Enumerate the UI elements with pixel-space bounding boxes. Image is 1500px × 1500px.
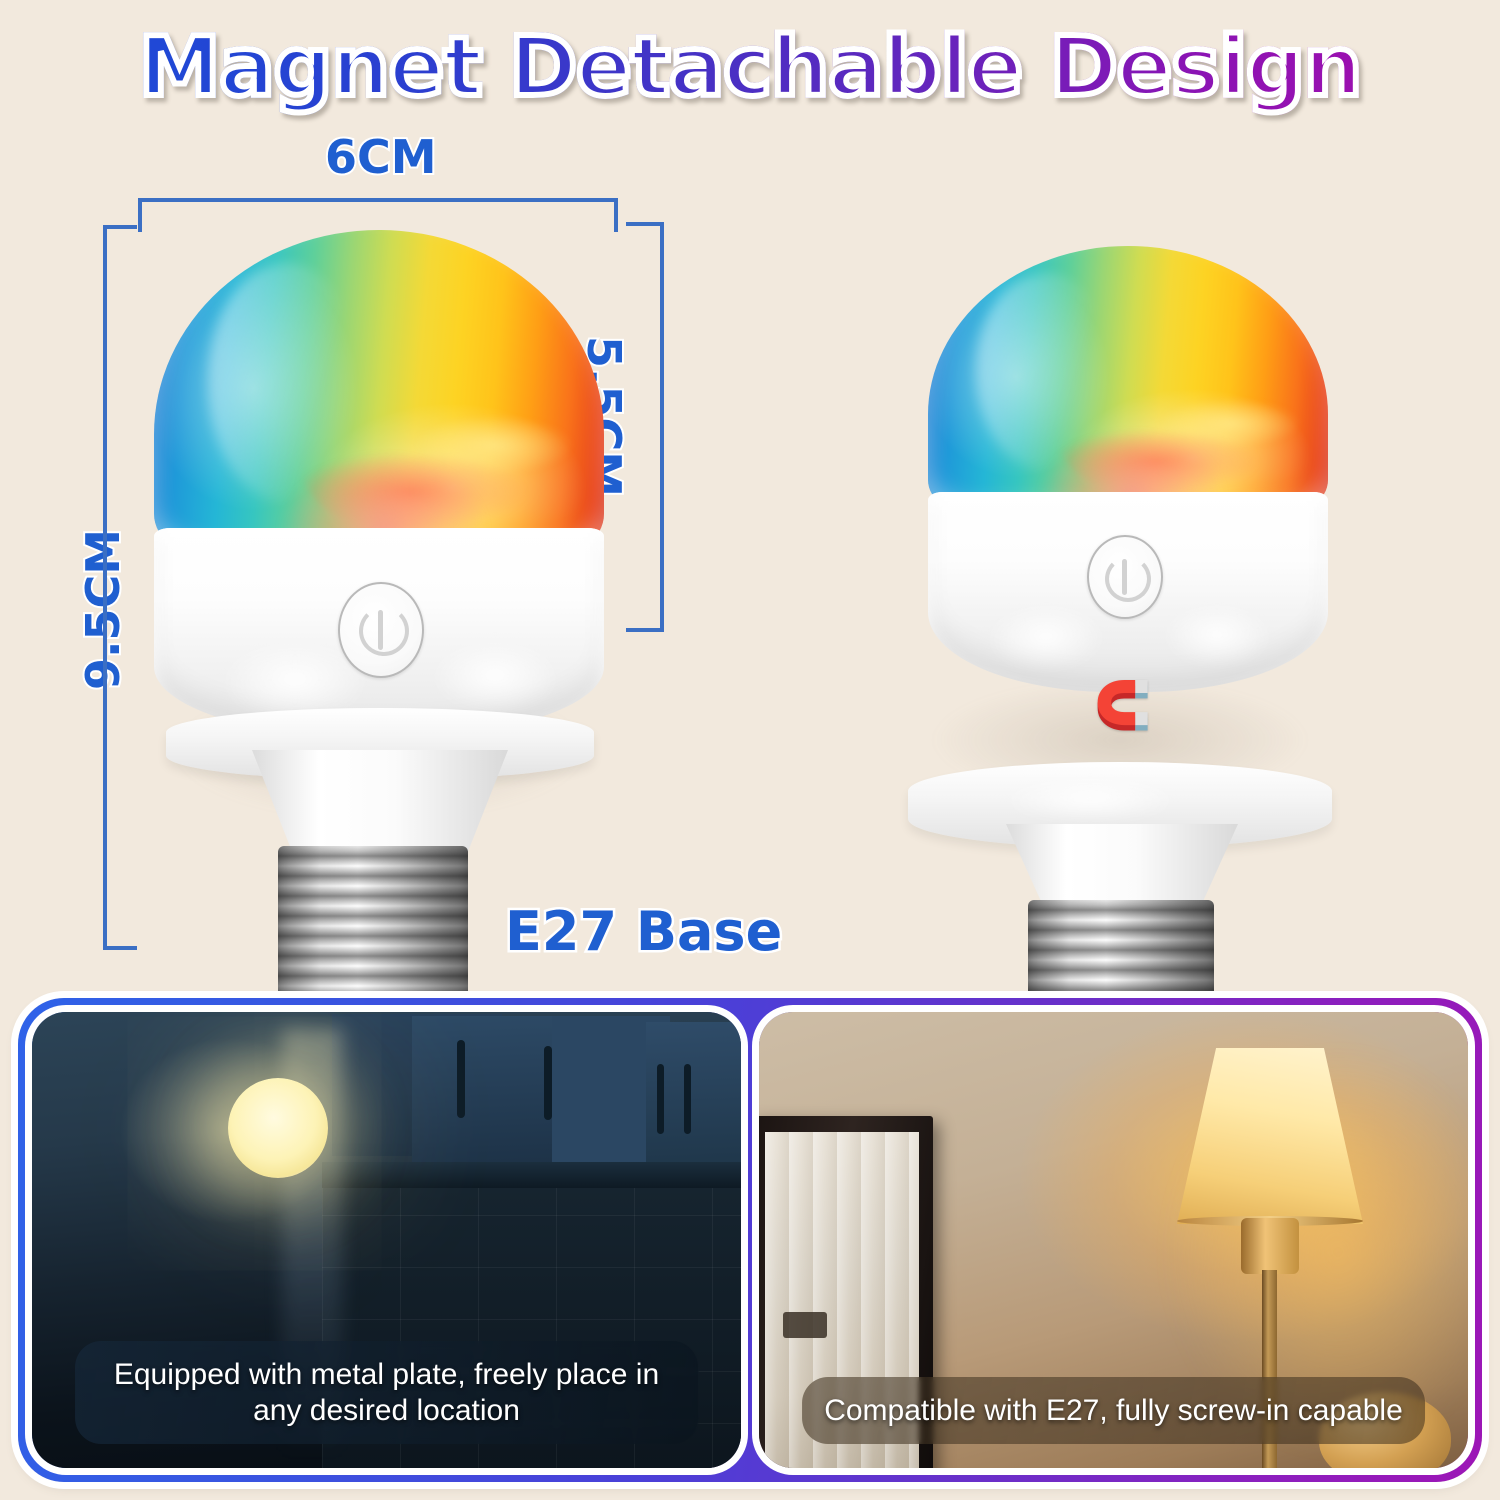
magnetic-nightlight: [228, 1078, 328, 1178]
cabinet-handle-1: [457, 1040, 465, 1118]
cabinet-handle-4: [684, 1064, 691, 1134]
feature-panels: Equipped with metal plate, freely place …: [18, 998, 1482, 1482]
bulb-assembled: [130, 210, 630, 1000]
bulb-body-gloss-2: [430, 640, 560, 712]
dimension-tick-head-top: [626, 222, 664, 226]
power-symbol-arc: [359, 606, 409, 656]
power-symbol-stem-detached: [1122, 559, 1127, 595]
bulb-detached: 🧲: [890, 210, 1350, 1000]
power-button[interactable]: [338, 582, 424, 678]
header: Magnet Detachable Design: [0, 12, 1500, 122]
panel-metal-plate[interactable]: Equipped with metal plate, freely place …: [32, 1012, 741, 1468]
rgb-dome-detached: [928, 246, 1328, 518]
base-neck: [1006, 824, 1238, 906]
power-symbol-stem: [378, 610, 383, 650]
dimension-label-width: 6CM: [325, 130, 437, 184]
bulb-head-gloss-2: [1162, 604, 1272, 666]
magnet-icon: 🧲: [1068, 682, 1178, 728]
dimension-line-width: [138, 198, 618, 202]
kitchen-cabinet-3: [412, 1016, 554, 1166]
lamp-socket: [1241, 1218, 1299, 1274]
page-title: Magnet Detachable Design: [139, 20, 1362, 115]
panel-e27-compatible[interactable]: Compatible with E27, fully screw-in capa…: [759, 1012, 1468, 1468]
dimension-tick-head-bottom: [626, 628, 664, 632]
e27-base-label: E27 Base: [505, 900, 782, 963]
power-symbol-arc-detached: [1105, 556, 1151, 602]
product-diagram: 6CM 5.5CM 9.5CM: [0, 120, 1500, 990]
cabinet-handle-3: [657, 1064, 664, 1134]
picture-object: [783, 1312, 827, 1338]
dimension-line-head-height: [660, 222, 664, 632]
kitchen-counter: [322, 1162, 741, 1188]
bulb-neck: [252, 750, 508, 854]
cabinet-handle-2: [544, 1046, 552, 1120]
bulb-head-gloss: [986, 604, 1106, 670]
dimension-line-total-height: [103, 225, 107, 950]
power-button-detached[interactable]: [1087, 535, 1163, 619]
panel-caption-left: Equipped with metal plate, freely place …: [75, 1341, 699, 1444]
e27-screw-base: [278, 846, 468, 1010]
base-plate-gloss: [1000, 776, 1180, 822]
panel-caption-right: Compatible with E27, fully screw-in capa…: [802, 1377, 1426, 1444]
rgb-dome: [154, 230, 604, 560]
